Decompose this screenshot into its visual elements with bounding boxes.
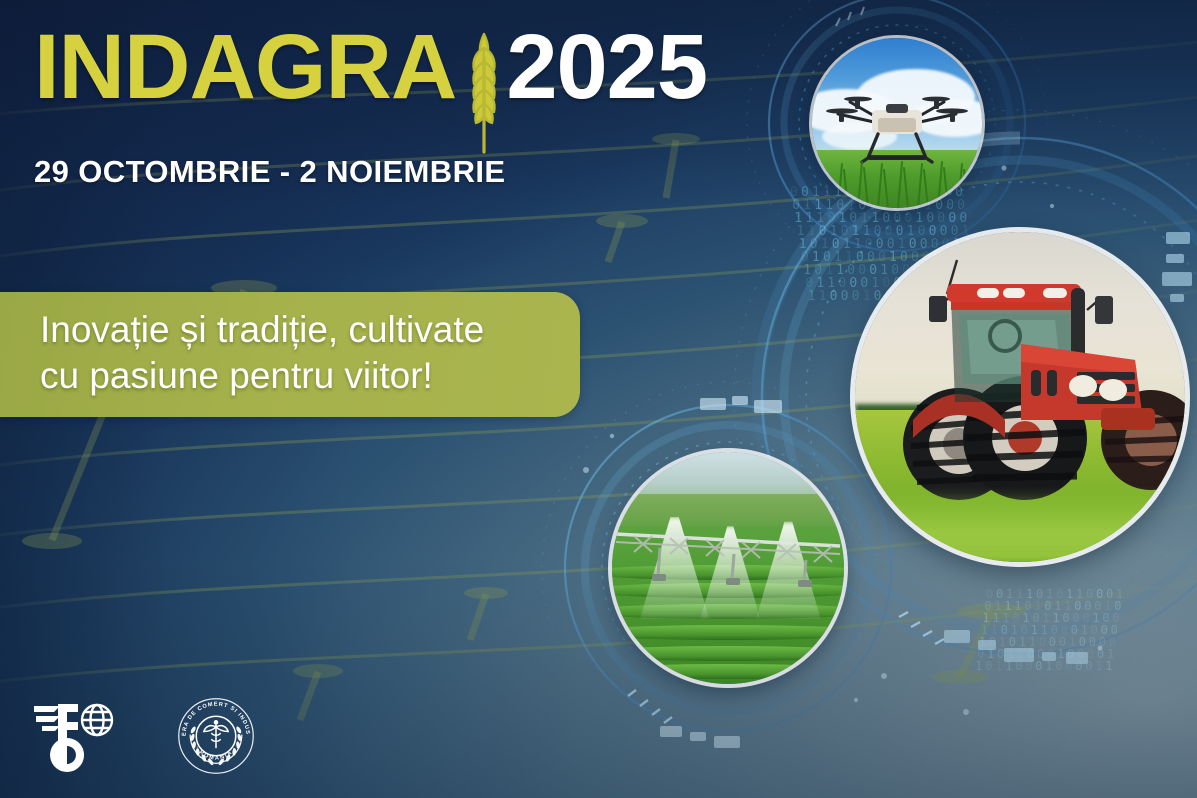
tagline-line-1: Inovație și tradiție, cultivate	[40, 307, 550, 353]
organizer-logos: CAMERA DE COMERT SI INDUSTRIE · ROMANIA …	[34, 698, 254, 774]
title-row: INDAGRA 2025	[34, 22, 707, 156]
brand-title: INDAGRA	[34, 22, 456, 112]
tractor-grass-foreground	[855, 489, 1185, 562]
event-dates: 29 OCTOMBRIE - 2 NOIEMBRIE	[34, 154, 707, 190]
irrigation-sprinkler-photo	[612, 452, 844, 684]
tagline-line-2: cu pasiune pentru viitor!	[40, 353, 550, 399]
year-title: 2025	[506, 22, 707, 112]
romexpo-logo[interactable]	[34, 700, 120, 772]
drone-grass-blades	[812, 38, 982, 208]
poster-header: INDAGRA 2025 29 OCTOMBR	[34, 22, 707, 190]
indagra-2025-poster: 0011101011000100011101011000100011101011…	[0, 0, 1197, 798]
tagline-banner: Inovație și tradiție, cultivate cu pasiu…	[0, 292, 580, 417]
agricultural-drone-photo	[812, 38, 982, 208]
wheat-stalk-icon	[462, 28, 506, 156]
ccir-logo[interactable]: CAMERA DE COMERT SI INDUSTRIE · ROMANIA …	[178, 698, 254, 774]
red-tractor-photo	[855, 232, 1185, 562]
pivot-irrigation-rig	[612, 452, 844, 684]
